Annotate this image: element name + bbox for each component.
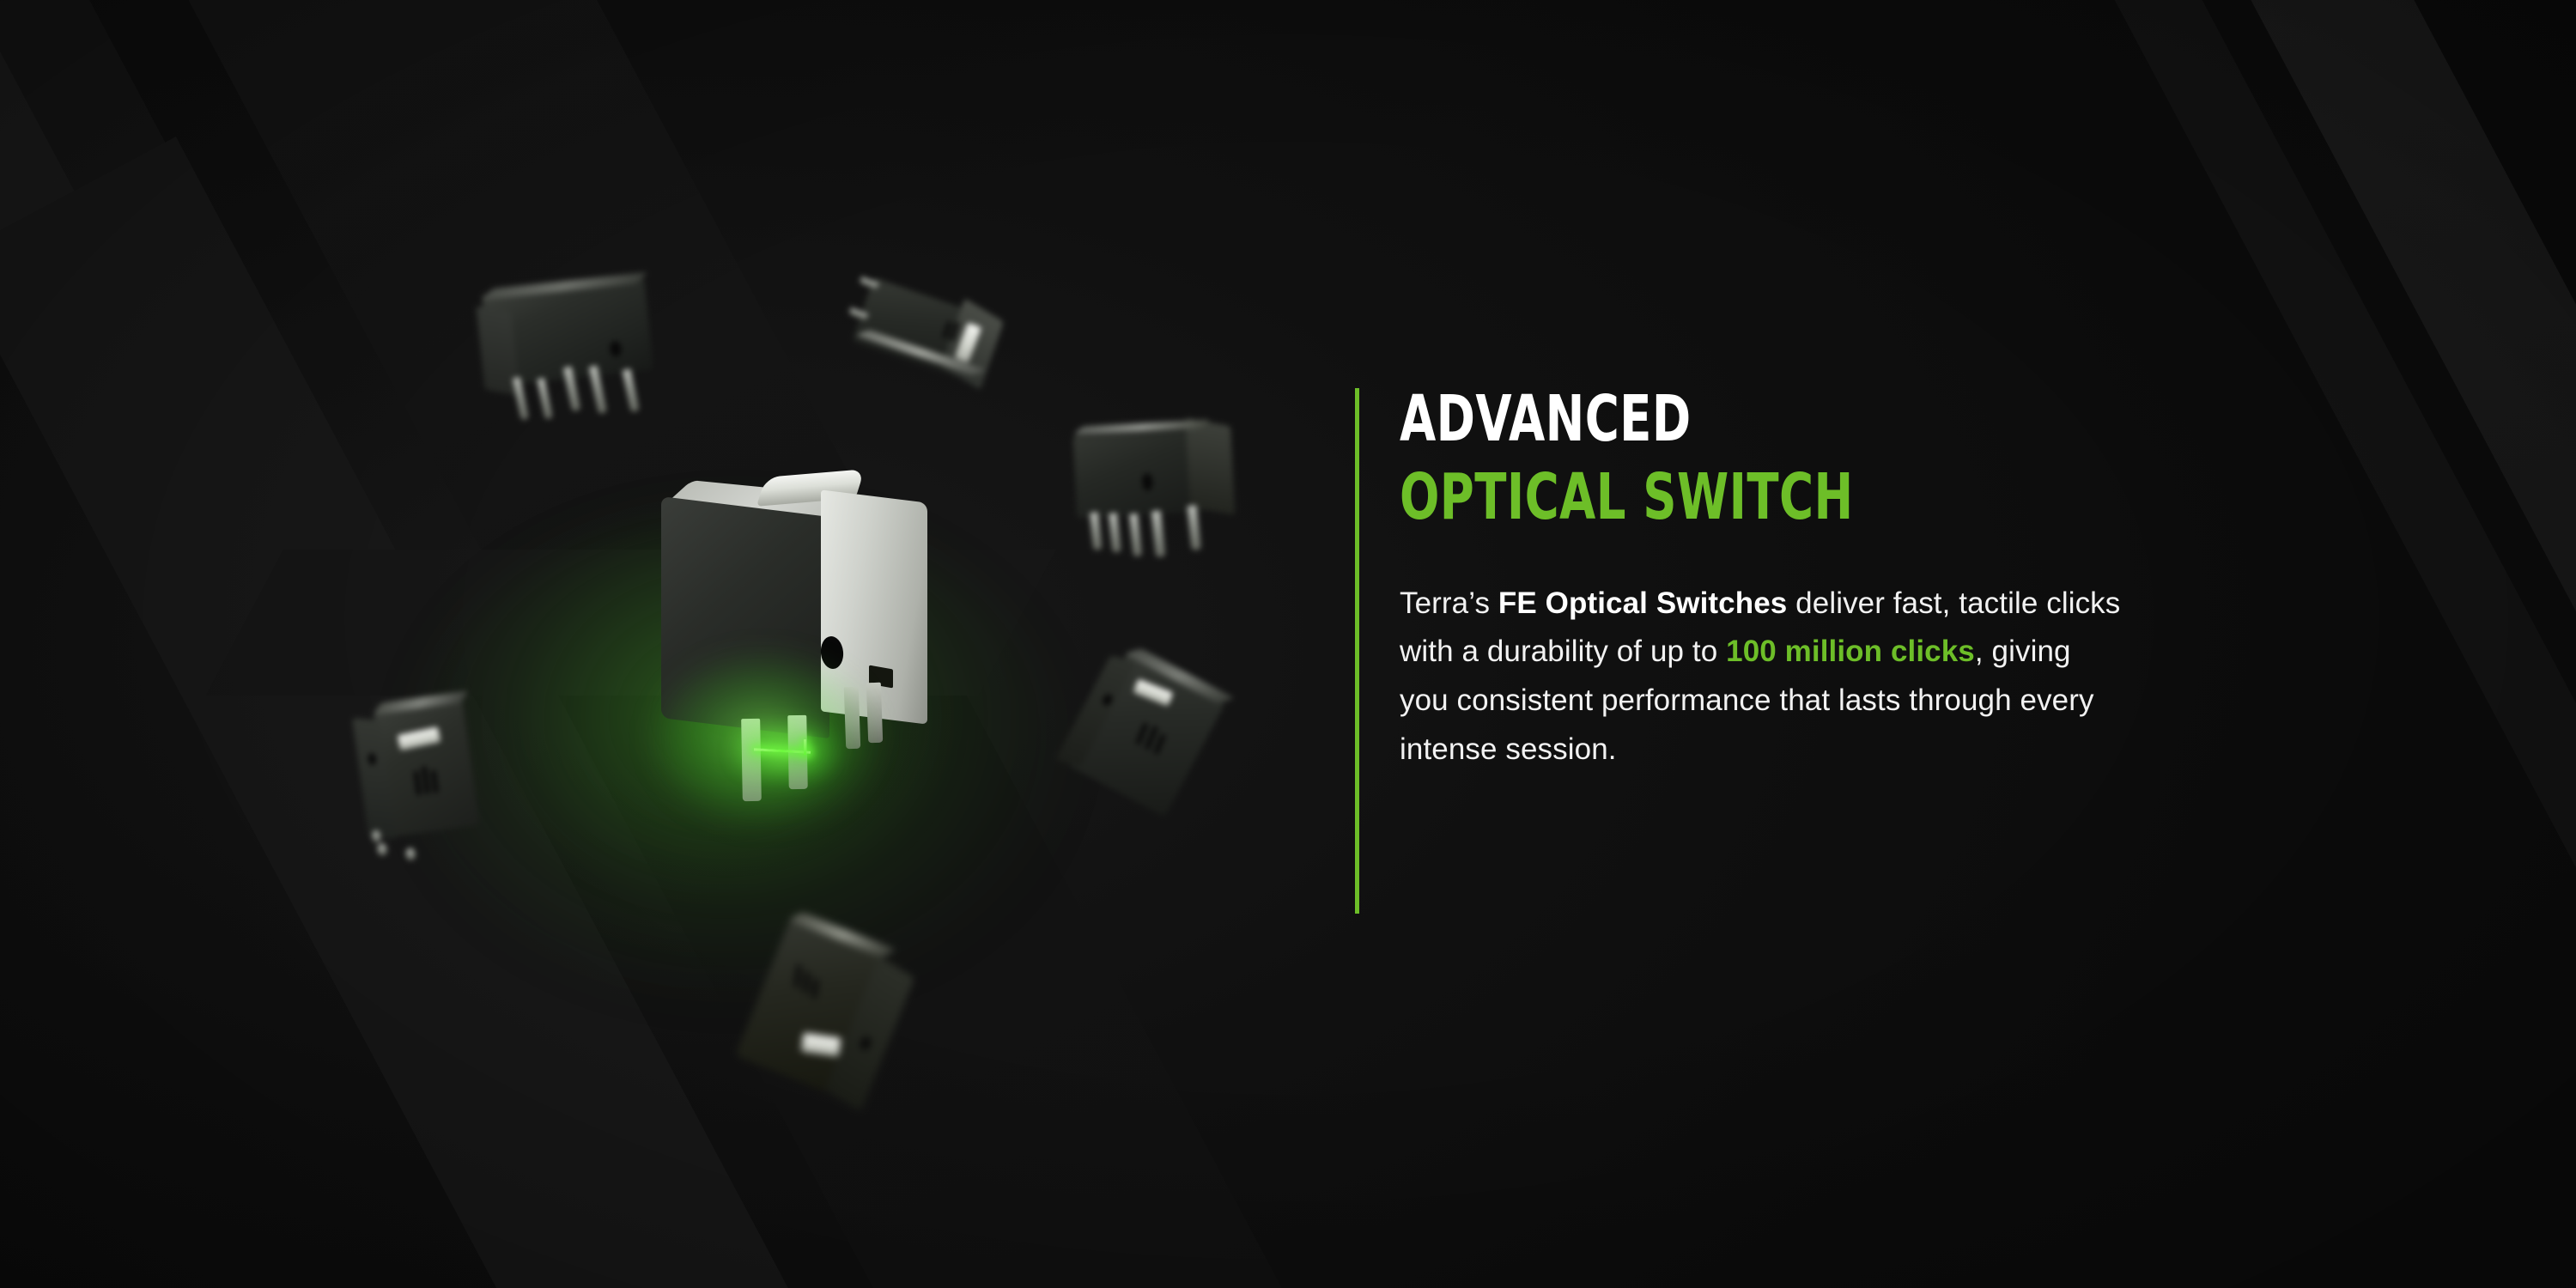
floating-switch-bottom-center bbox=[711, 900, 973, 1152]
floating-switch-top-left bbox=[474, 270, 664, 426]
hero-switch-pin-back-left bbox=[844, 687, 861, 750]
body-highlight-durability: 100 million clicks bbox=[1726, 635, 1975, 668]
floating-switch-left-lower bbox=[343, 683, 541, 902]
body-paragraph: Terra’s FE Optical Switches deliver fast… bbox=[1400, 580, 2121, 775]
floating-switch-top-center bbox=[823, 260, 1014, 419]
headline-line-2: OPTICAL SWITCH bbox=[1400, 466, 2208, 529]
floating-switch-mid-right-upper bbox=[1056, 411, 1249, 575]
optical-beam-vertical bbox=[804, 739, 806, 755]
accent-bar bbox=[1355, 388, 1359, 914]
headline-line-1: ADVANCED bbox=[1400, 388, 2208, 451]
product-feature-banner: ADVANCED OPTICAL SWITCH Terra’s FE Optic… bbox=[0, 0, 2576, 1288]
hero-switch-left-face bbox=[661, 496, 829, 738]
body-bold-product-name: FE Optical Switches bbox=[1498, 586, 1787, 620]
hero-switch-pin-front-left bbox=[741, 719, 762, 801]
floating-switch-mid-right-lower bbox=[1043, 635, 1285, 869]
copy-block: ADVANCED OPTICAL SWITCH Terra’s FE Optic… bbox=[1355, 388, 2385, 774]
body-segment-1: Terra’s bbox=[1400, 586, 1498, 620]
hero-optical-switch bbox=[653, 468, 962, 829]
hero-switch-pin-back-right bbox=[866, 683, 883, 744]
product-stage bbox=[0, 0, 1340, 1288]
